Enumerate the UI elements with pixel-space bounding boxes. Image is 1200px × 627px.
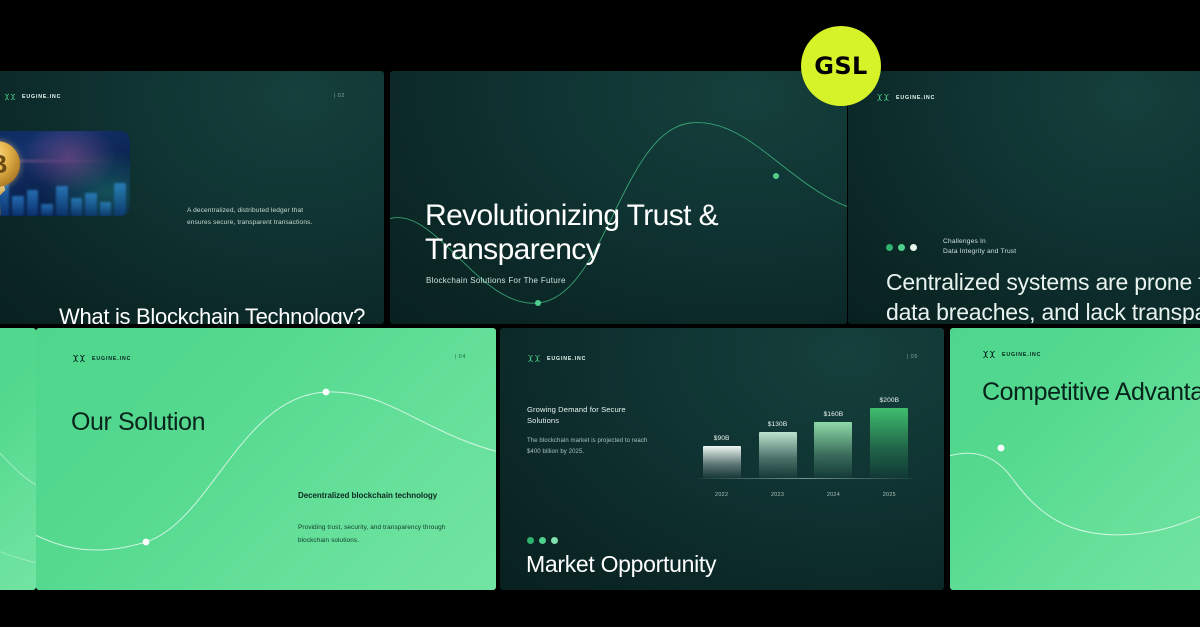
bar-value-label: $130B	[768, 421, 788, 428]
market-progress-dots	[527, 537, 558, 544]
challenges-eyebrow-row: Challenges In Data Integrity and Trust	[886, 237, 1016, 257]
brand-logo: EUGINE.INC	[72, 354, 131, 363]
brand-name: EUGINE.INC	[896, 95, 935, 101]
bar-column: $130B	[754, 390, 801, 478]
brand-name: EUGINE.INC	[1002, 352, 1041, 358]
cover-subtitle: Blockchain Solutions For The Future	[426, 276, 566, 285]
dot-1	[527, 537, 534, 544]
slide-title: What is Blockchain Technology?	[59, 303, 379, 324]
brand-name: EUGINE.INC	[547, 356, 586, 362]
challenges-eyebrow: Challenges In Data Integrity and Trust	[943, 237, 1016, 257]
sine-wave-decor	[36, 328, 496, 590]
dot-1	[886, 244, 893, 251]
slide-body-text: A decentralized, distributed ledger that…	[187, 205, 327, 228]
dot-2	[898, 244, 905, 251]
bar-column: $90B	[698, 390, 745, 478]
wave-node	[998, 445, 1005, 452]
market-subtitle: Growing Demand for Secure Solutions	[527, 404, 657, 427]
slide-partial-left-edge[interactable]	[0, 328, 36, 590]
x-tick-label: 2022	[698, 492, 745, 498]
slide-title-cover[interactable]: Revolutionizing Trust & Transparency Blo…	[390, 71, 847, 324]
brand-name: EUGINE.INC	[92, 356, 131, 362]
brand-logo: EUGINE.INC	[527, 354, 586, 363]
bar-column: $200B	[866, 390, 913, 478]
slide-challenges[interactable]: EUGINE.INC Challenges In Data Integrity …	[848, 71, 1200, 324]
slides-preview-canvas: EUGINE.INC | 02 ₿ A decentralized, distr…	[0, 0, 1200, 627]
curve-decor	[0, 328, 36, 590]
brand-name: EUGINE.INC	[22, 94, 61, 100]
eyebrow-line-1: Challenges In	[943, 238, 986, 245]
eugine-logo-icon	[4, 93, 16, 101]
market-body: The blockchain market is projected to re…	[527, 436, 657, 459]
wave-node-low	[143, 539, 150, 546]
market-bar-chart: $90B$130B$160B$200B 2022202320242025	[698, 390, 913, 500]
dot-3	[910, 244, 917, 251]
x-tick-label: 2024	[810, 492, 857, 498]
dot-2	[539, 537, 546, 544]
page-number: | 04	[455, 354, 466, 360]
bar	[814, 422, 852, 478]
slide-title: Competitive Advantage	[982, 378, 1200, 407]
wave-node-low	[535, 300, 541, 306]
brand-logo: EUGINE.INC	[4, 93, 61, 101]
page-number: | 02	[334, 93, 345, 99]
brand-logo: EUGINE.INC	[876, 93, 935, 102]
wave-node-high	[323, 389, 330, 396]
cover-heading: Revolutionizing Trust & Transparency	[425, 199, 825, 267]
page-number: | 05	[907, 354, 918, 360]
slide-title: Market Opportunity	[526, 551, 716, 578]
x-tick-label: 2025	[866, 492, 913, 498]
bar	[759, 432, 797, 478]
bar	[703, 446, 741, 478]
eugine-logo-icon	[72, 354, 86, 363]
eugine-logo-icon	[982, 350, 996, 359]
slide-market-opportunity[interactable]: EUGINE.INC | 05 Growing Demand for Secur…	[500, 328, 944, 590]
chart-x-tick-labels: 2022202320242025	[698, 492, 913, 498]
chart-x-axis	[698, 478, 913, 479]
slide-our-solution[interactable]: EUGINE.INC | 04 Our Solution Decentraliz…	[36, 328, 496, 590]
slide-competitive-advantage[interactable]: EUGINE.INC Competitive Advantage Eugine …	[950, 328, 1200, 590]
bitcoin-photo: ₿	[0, 131, 130, 216]
x-tick-label: 2023	[754, 492, 801, 498]
bar	[870, 408, 908, 478]
challenges-heading: Centralized systems are prone to fraud, …	[886, 267, 1200, 324]
bar-column: $160B	[810, 390, 857, 478]
curve-decor	[950, 328, 1200, 590]
solution-subtitle: Decentralized blockchain technology	[298, 490, 458, 502]
progress-dots	[886, 244, 917, 251]
wave-node-high	[773, 173, 779, 179]
eugine-logo-icon	[876, 93, 890, 102]
chart-plot-area: $90B$130B$160B$200B	[698, 390, 913, 478]
bar-value-label: $160B	[824, 411, 844, 418]
gsl-badge[interactable]: GSL	[801, 26, 881, 106]
slide-title: Our Solution	[71, 408, 205, 437]
brand-logo: EUGINE.INC	[982, 350, 1041, 359]
solution-body: Providing trust, security, and transpare…	[298, 522, 468, 548]
bar-value-label: $90B	[714, 435, 730, 442]
bar-value-label: $200B	[880, 397, 900, 404]
eyebrow-line-2: Data Integrity and Trust	[943, 248, 1016, 255]
eugine-logo-icon	[527, 354, 541, 363]
slide-what-is-blockchain[interactable]: EUGINE.INC | 02 ₿ A decentralized, distr…	[0, 71, 384, 324]
dot-3	[551, 537, 558, 544]
sine-wave-decor	[390, 71, 847, 324]
chart-bars-decor	[0, 177, 130, 216]
